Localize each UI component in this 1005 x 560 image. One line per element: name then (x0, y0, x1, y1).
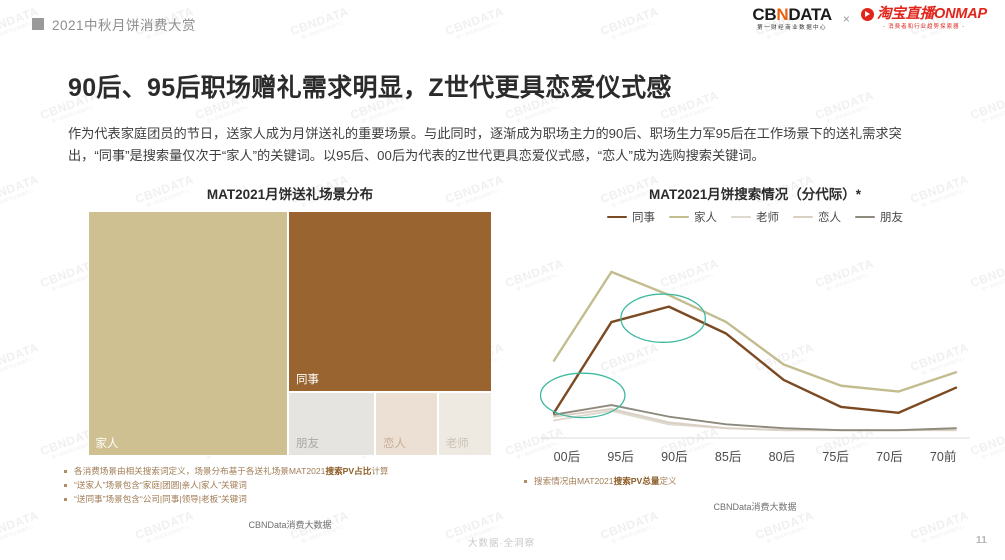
legend-label: 家人 (694, 209, 717, 225)
note-text: “送同事”场景包含“公司|同事|领导|老板”关键词 (74, 494, 247, 504)
treemap-cell-label: 恋人 (383, 435, 406, 451)
watermark-text: CBNDATA第一财经商业数据中心 (968, 88, 1005, 128)
cbndata-wordmark: CBNDATA (752, 6, 831, 23)
note-emphasis: 搜索PV占比 (325, 466, 371, 476)
linechart-legend: 同事家人老师恋人朋友 (520, 209, 990, 225)
footer-slogan: 大数据·全洞察 (468, 535, 535, 549)
xaxis-tick-00后: 00后 (540, 446, 594, 465)
linechart-title: MAT2021月饼搜索情况（分代际）* (520, 183, 990, 203)
header-tag-label: 2021中秋月饼消费大赏 (52, 14, 196, 34)
taobao-live-name: 淘宝直播ONMAP (877, 7, 987, 22)
cbndata-subtitle: 第一财经商业数据中心 (757, 26, 827, 32)
legend-item-同事[interactable]: 同事 (607, 209, 655, 225)
square-icon (32, 18, 44, 30)
legend-line-icon (793, 216, 813, 219)
linechart-notes: 搜索情况由MAT2021搜索PV总量定义 (520, 474, 990, 488)
legend-item-朋友[interactable]: 朋友 (855, 209, 903, 225)
watermark-text: CBNDATA第一财经商业数据中心 (0, 172, 43, 212)
treemap-cell-朋友[interactable]: 朋友 (288, 392, 375, 456)
legend-line-icon (855, 216, 875, 219)
note-text-post: 计算 (371, 466, 388, 476)
xaxis-tick-85后: 85后 (701, 446, 755, 465)
watermark-text: CBNDATA第一财经商业数据中心 (0, 340, 43, 380)
linechart-series-老师 (554, 411, 956, 430)
legend-item-家人[interactable]: 家人 (669, 209, 717, 225)
treemap-cell-恋人[interactable]: 恋人 (375, 392, 438, 456)
legend-label: 同事 (632, 209, 655, 225)
right-chart-panel: MAT2021月饼搜索情况（分代际）* 同事家人老师恋人朋友 00后95后90后… (520, 183, 990, 513)
xaxis-tick-70前: 70前 (916, 446, 970, 465)
note-item: “送同事”场景包含“公司|同事|领导|老板”关键词 (74, 492, 520, 506)
xaxis-tick-80后: 80后 (755, 446, 809, 465)
cbndata-name-a: CB (752, 5, 776, 24)
cbndata-name-b: DATA (788, 5, 832, 24)
page-paragraph: 作为代表家庭团员的节日，送家人成为月饼送礼的重要场景。与此同时，逐渐成为职场主力… (68, 123, 940, 167)
xaxis-tick-95后: 95后 (594, 446, 648, 465)
linechart-source: CBNData消费大数据 (520, 500, 990, 513)
treemap-chart: 家人同事朋友恋人老师 (88, 211, 493, 456)
xaxis-tick-70后: 70后 (863, 446, 917, 465)
linechart-series-同事 (554, 307, 956, 413)
legend-line-icon (607, 216, 627, 219)
linechart-highlight-ellipse-1 (541, 373, 625, 417)
note-text: 各消费场景由相关搜索词定义，场景分布基于各送礼场景MAT2021 (74, 466, 325, 476)
legend-label: 恋人 (818, 209, 841, 225)
treemap-notes: 各消费场景由相关搜索词定义，场景分布基于各送礼场景MAT2021搜索PV占比计算… (60, 464, 520, 506)
cross-icon: × (841, 12, 852, 26)
page-header: 2021中秋月饼消费大赏 CBNDATA 第一财经商业数据中心 × 淘宝直播ON… (0, 0, 1005, 46)
treemap-cell-同事[interactable]: 同事 (288, 211, 493, 392)
watermark-text: CBNDATA第一财经商业数据中心 (813, 88, 877, 128)
legend-line-icon (731, 216, 751, 219)
xaxis-tick-75后: 75后 (809, 446, 863, 465)
note-text-post: 定义 (659, 476, 676, 486)
legend-line-icon (669, 216, 689, 219)
legend-label: 朋友 (880, 209, 903, 225)
treemap-title: MAT2021月饼送礼场景分布 (60, 183, 520, 203)
note-text: 搜索情况由MAT2021 (534, 476, 614, 486)
legend-item-老师[interactable]: 老师 (731, 209, 779, 225)
page-footer: 大数据·全洞察 11 (0, 526, 1005, 560)
note-item: 搜索情况由MAT2021搜索PV总量定义 (534, 474, 990, 488)
treemap-cell-家人[interactable]: 家人 (88, 211, 288, 456)
note-item: “送家人”场景包含“家庭|团圆|亲人|家人”关键词 (74, 478, 520, 492)
note-text: “送家人”场景包含“家庭|团圆|亲人|家人”关键词 (74, 480, 247, 490)
header-brands: CBNDATA 第一财经商业数据中心 × 淘宝直播ONMAP - 消费者和行业趋… (752, 6, 987, 32)
taobao-live-row: 淘宝直播ONMAP (861, 7, 987, 22)
cbndata-logo: CBNDATA 第一财经商业数据中心 (752, 6, 831, 32)
treemap-cell-label: 同事 (296, 371, 319, 387)
linechart-xaxis: 00后95后90后85后80后75后70后70前 (540, 446, 970, 465)
note-item: 各消费场景由相关搜索词定义，场景分布基于各送礼场景MAT2021搜索PV占比计算 (74, 464, 520, 478)
linechart-plot (540, 231, 970, 446)
treemap-cell-label: 老师 (446, 435, 469, 451)
legend-item-恋人[interactable]: 恋人 (793, 209, 841, 225)
header-tag: 2021中秋月饼消费大赏 (32, 14, 196, 34)
taobao-live-subtitle: - 消费者和行业趋势探索器 - (883, 25, 965, 30)
cbndata-name-x: N (776, 5, 788, 24)
note-emphasis: 搜索PV总量 (614, 476, 660, 486)
linechart-series-家人 (554, 272, 956, 392)
treemap-cell-老师[interactable]: 老师 (438, 392, 493, 456)
footer-page-number: 11 (976, 534, 987, 546)
legend-label: 老师 (756, 209, 779, 225)
xaxis-tick-90后: 90后 (648, 446, 702, 465)
treemap-cell-label: 朋友 (296, 435, 319, 451)
play-circle-icon (861, 8, 874, 21)
taobao-live-logo: 淘宝直播ONMAP - 消费者和行业趋势探索器 - (861, 7, 987, 30)
page-title: 90后、95后职场赠礼需求明显，Z世代更具恋爱仪式感 (68, 68, 672, 104)
linechart-svg (540, 231, 970, 446)
treemap-cell-label: 家人 (96, 435, 119, 451)
left-chart-panel: MAT2021月饼送礼场景分布 家人同事朋友恋人老师 各消费场景由相关搜索词定义… (60, 183, 520, 531)
